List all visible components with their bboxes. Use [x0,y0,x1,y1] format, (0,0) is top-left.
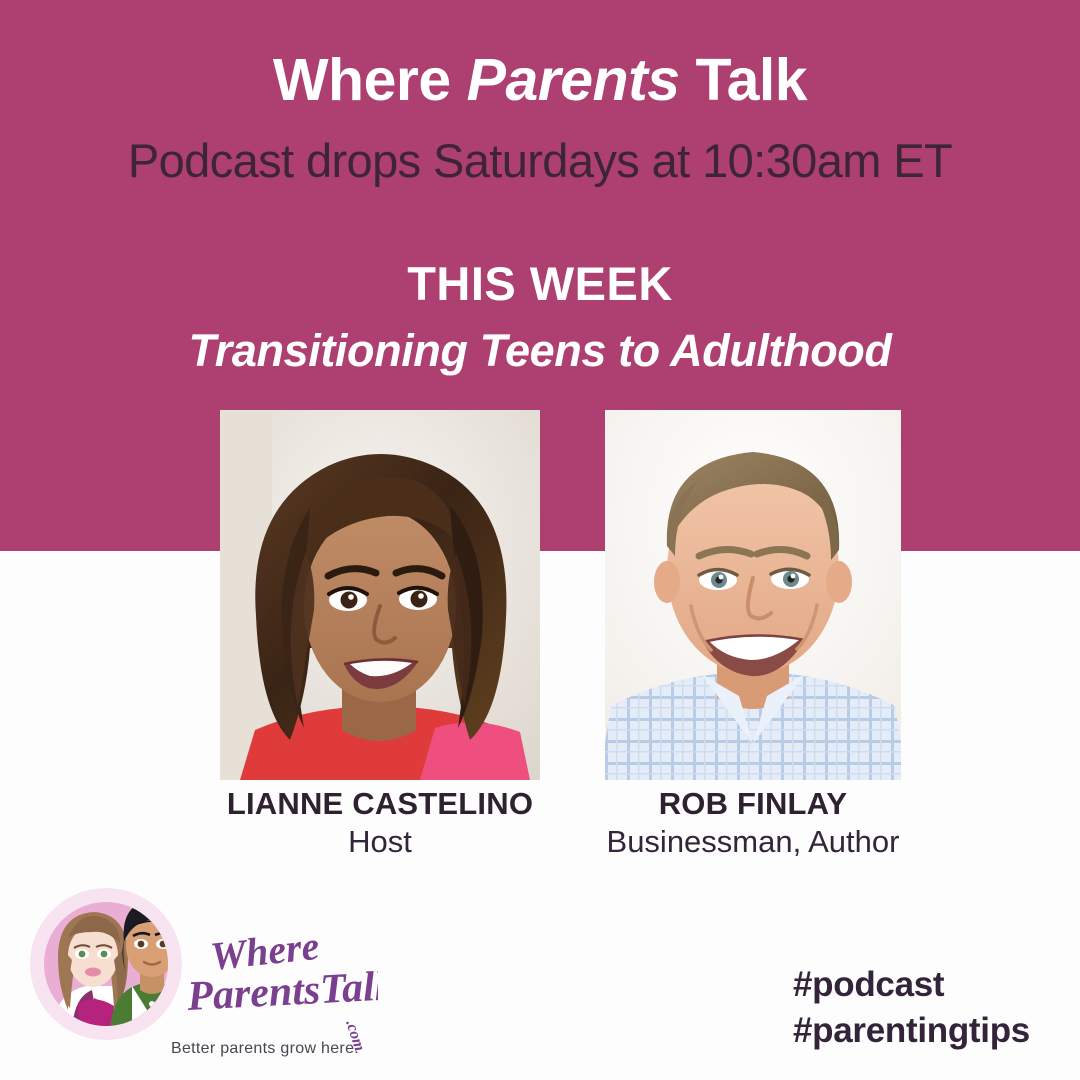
hashtag-parentingtips: #parentingtips [793,1008,1030,1054]
podcast-promo-poster: Where Parents Talk Podcast drops Saturda… [0,0,1080,1080]
show-title-suffix: Talk [680,47,808,113]
lianne-castelino-photo [220,410,540,780]
show-title: Where Parents Talk [0,50,1080,112]
episode-title: Transitioning Teens to Adulthood [0,325,1080,377]
logo-tagline: Better parents grow here. [150,1040,380,1058]
show-title-prefix: Where [273,47,467,113]
where-parents-talk-logo[interactable]: Where ParentsTalk .com [28,886,378,1056]
svg-text:ParentsTalk: ParentsTalk [185,963,378,1020]
person-role-lianne: Host [180,824,580,860]
hashtag-podcast: #podcast [793,962,1030,1008]
this-week-label: THIS WEEK [0,256,1080,311]
hashtag-block: #podcast #parentingtips [793,962,1030,1053]
show-title-emphasis: Parents [467,47,680,113]
person-role-rob: Businessman, Author [553,824,953,860]
show-subtitle: Podcast drops Saturdays at 10:30am ET [0,133,1080,188]
rob-finlay-photo [605,410,901,780]
person-name-lianne: LIANNE CASTELINO [180,786,580,822]
person-name-rob: ROB FINLAY [553,786,953,822]
